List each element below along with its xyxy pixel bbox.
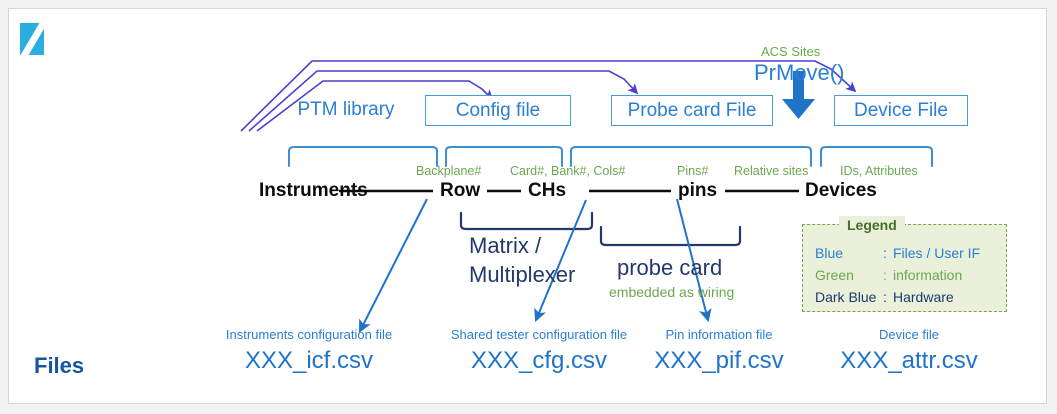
acs-sites-label: ACS Sites: [761, 45, 820, 58]
chain-node-pins: pins: [678, 180, 717, 202]
connector-overlay: [9, 9, 1048, 405]
annotation-card-bank-cols: Card#, Bank#, Cols#: [510, 164, 625, 178]
file-caption-pif: Pin information file: [609, 327, 829, 342]
device-file-box[interactable]: Device File: [834, 95, 968, 126]
chain-node-devices: Devices: [805, 180, 877, 202]
annotation-backplane: Backplane#: [416, 164, 481, 178]
chain-node-chs: CHs: [528, 180, 566, 202]
config-file-box[interactable]: Config file: [425, 95, 571, 126]
matrix-label-line1: Matrix /: [469, 235, 541, 257]
chain-node-row: Row: [440, 180, 480, 202]
arrow-instruments-to-icf: [360, 199, 427, 331]
files-row-label: Files: [34, 353, 84, 379]
probe-card-subtitle: embedded as wiring: [609, 285, 734, 299]
prmove-call-label: PrMove(): [754, 62, 844, 84]
legend-row-green-value: information: [893, 267, 962, 283]
annotation-pins-hash: Pins#: [677, 164, 708, 178]
file-name-icf[interactable]: XXX_icf.csv: [179, 347, 439, 375]
legend-row-darkblue-sep: :: [883, 289, 887, 305]
legend-row-blue-sep: :: [883, 245, 887, 261]
probe-card-file-box[interactable]: Probe card File: [611, 95, 773, 126]
company-logo: [18, 22, 48, 56]
legend-row-blue-value: Files / User IF: [893, 245, 980, 261]
annotation-ids-attributes: IDs, Attributes: [840, 164, 918, 178]
legend-row-green-sep: :: [883, 267, 887, 283]
arrow-chs-to-cfg: [536, 200, 586, 320]
slide-canvas: ACS Sites PrMove() PTM library Config fi…: [8, 8, 1047, 404]
file-name-pif[interactable]: XXX_pif.csv: [609, 347, 829, 375]
ptm-library-label: PTM library: [281, 95, 411, 125]
legend-row-blue-key: Blue: [815, 245, 843, 261]
legend-row-darkblue-value: Hardware: [893, 289, 954, 305]
legend-row-darkblue-key: Dark Blue: [815, 289, 876, 305]
chain-node-instruments: Instruments: [259, 180, 368, 202]
matrix-label-line2: Multiplexer: [469, 264, 575, 286]
annotation-relative-sites: Relative sites: [734, 164, 808, 178]
probe-card-title: probe card: [617, 257, 722, 279]
file-caption-icf: Instruments configuration file: [179, 327, 439, 342]
file-caption-attr: Device file: [799, 327, 1019, 342]
file-name-attr[interactable]: XXX_attr.csv: [799, 347, 1019, 375]
legend-row-green-key: Green: [815, 267, 854, 283]
legend-title: Legend: [839, 216, 905, 235]
